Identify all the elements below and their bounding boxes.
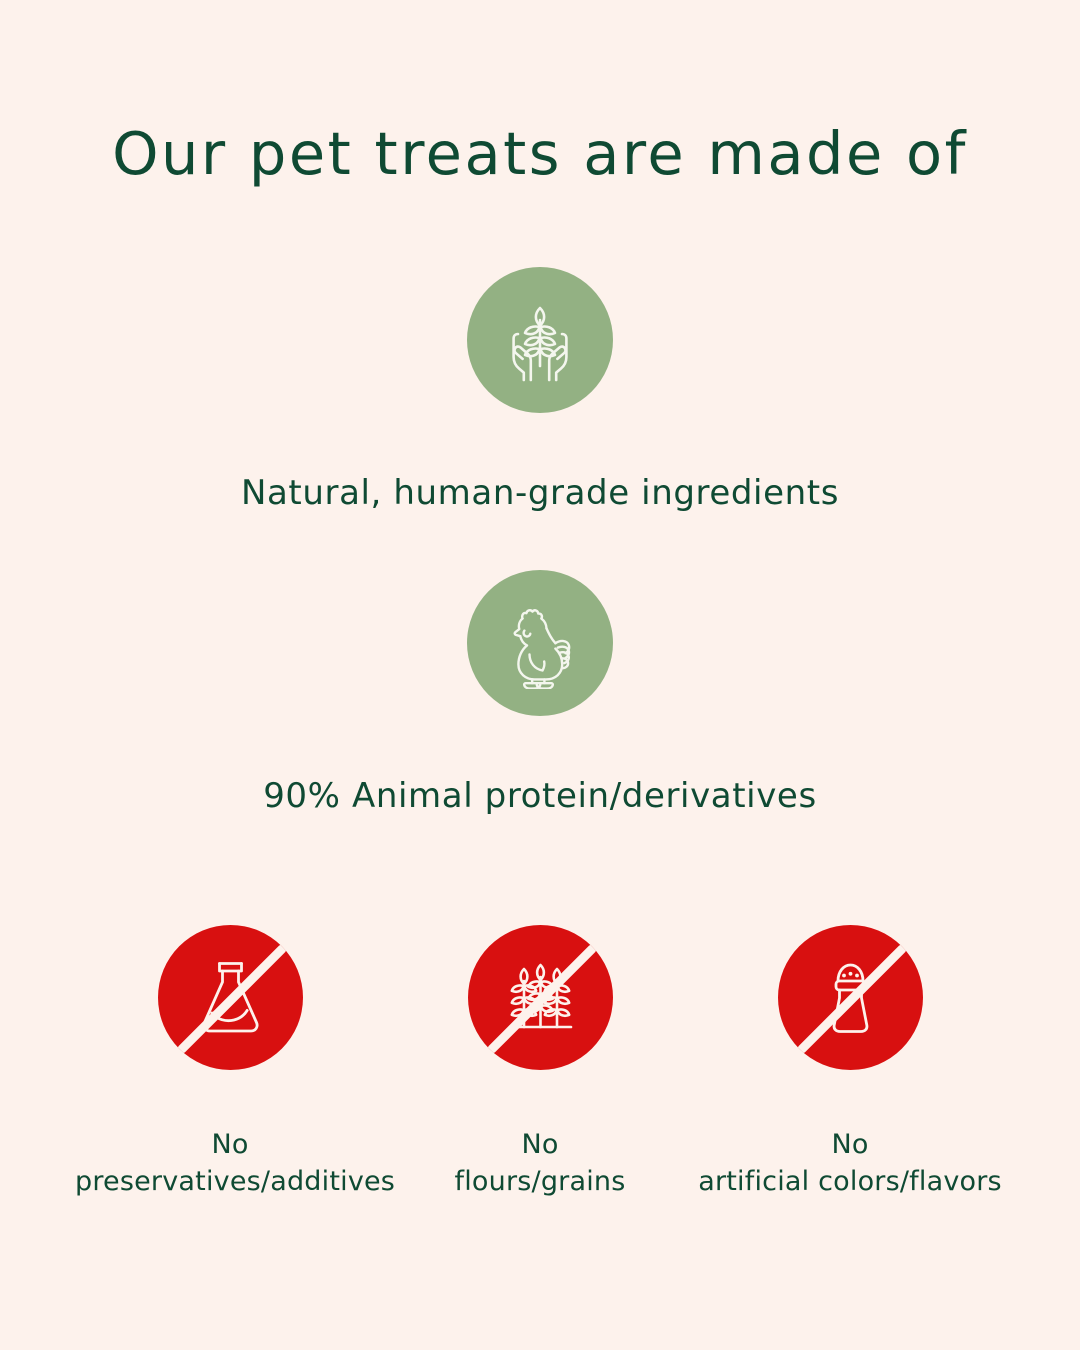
exclusion-flours-grains: No flours/grains [385,925,695,1201]
exclusion-artificial-colors: No artificial colors/flavors [695,925,1005,1201]
feature-label: Natural, human-grade ingredients [0,473,1080,514]
exclusion-preservatives: No preservatives/additives [75,925,385,1201]
feature-icon-badge [467,570,613,716]
exclusion-icon-badge [158,925,303,1070]
exclusion-label-line2: preservatives/additives [75,1163,385,1200]
no-wheat-icon [468,925,613,1070]
no-flask-icon [158,925,303,1070]
exclusion-icon-badge [468,925,613,1070]
exclusion-label-line1: No [695,1126,1005,1163]
exclusion-label-line1: No [75,1126,385,1163]
exclusion-label-line2: artificial colors/flavors [695,1163,1005,1200]
no-salt-shaker-icon [778,925,923,1070]
exclusions-row: No preservatives/additives [0,925,1080,1201]
feature-natural-ingredients: Natural, human-grade ingredients [0,267,1080,514]
feature-animal-protein: 90% Animal protein/derivatives [0,570,1080,817]
exclusion-label: No preservatives/additives [75,1126,385,1201]
exclusion-label-line1: No [385,1126,695,1163]
feature-label: 90% Animal protein/derivatives [0,776,1080,817]
exclusion-label-line2: flours/grains [385,1163,695,1200]
chicken-icon [494,597,586,689]
exclusion-icon-badge [778,925,923,1070]
exclusion-label: No artificial colors/flavors [695,1126,1005,1201]
infographic-page: Our pet treats are made of [0,0,1080,1350]
page-title: Our pet treats are made of [0,120,1080,188]
exclusion-label: No flours/grains [385,1126,695,1201]
feature-icon-badge [467,267,613,413]
hands-holding-wheat-icon [494,294,586,386]
